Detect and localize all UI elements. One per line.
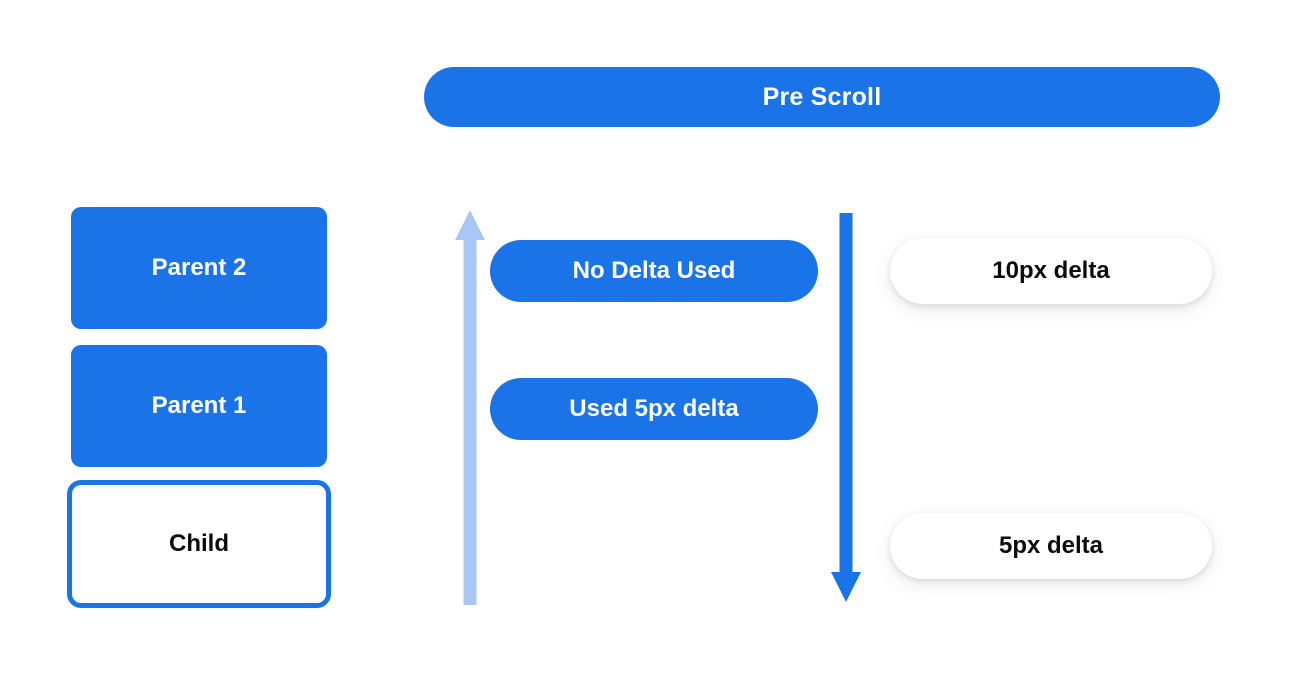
frame-parent-1-label: Parent 1 bbox=[152, 392, 247, 420]
pill-no-delta-used-label: No Delta Used bbox=[573, 257, 736, 285]
diagram-canvas: Pre Scroll Parent 2 Parent 1 Child No De… bbox=[0, 0, 1312, 680]
down-arrow-icon bbox=[828, 210, 864, 606]
pill-10px-delta-label: 10px delta bbox=[992, 257, 1109, 285]
pill-used-5px-delta-label: Used 5px delta bbox=[569, 395, 738, 423]
pill-5px-delta-label: 5px delta bbox=[999, 532, 1103, 560]
pill-used-5px-delta: Used 5px delta bbox=[490, 378, 818, 440]
frame-parent-1: Parent 1 bbox=[71, 345, 327, 467]
frame-parent-2-label: Parent 2 bbox=[152, 254, 247, 282]
up-arrow-icon bbox=[452, 208, 488, 606]
pill-5px-delta: 5px delta bbox=[890, 513, 1212, 579]
frame-child-label: Child bbox=[169, 530, 229, 558]
pill-10px-delta: 10px delta bbox=[890, 238, 1212, 304]
pill-no-delta-used: No Delta Used bbox=[490, 240, 818, 302]
frame-parent-2: Parent 2 bbox=[71, 207, 327, 329]
frame-child: Child bbox=[67, 480, 331, 608]
pre-scroll-banner: Pre Scroll bbox=[424, 67, 1220, 127]
pre-scroll-banner-label: Pre Scroll bbox=[763, 83, 882, 112]
